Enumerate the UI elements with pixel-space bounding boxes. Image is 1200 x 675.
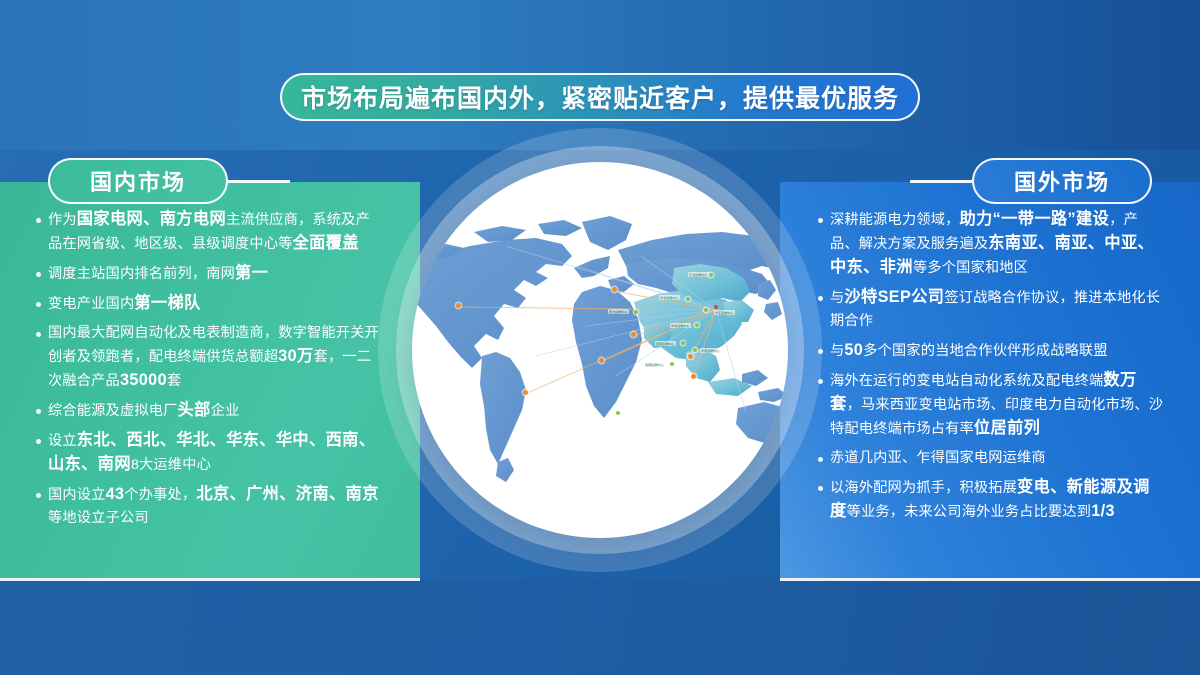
list-item: 调度主站国内排名前列，南网第一 (36, 262, 382, 286)
map-marker-huanan (693, 348, 697, 352)
domestic-badge-label: 国内市场 (90, 165, 186, 197)
map-marker-xibei (634, 310, 638, 314)
map-marker-dongbei (709, 273, 713, 277)
overseas-badge-connector (910, 180, 974, 183)
list-item-text: 变电产业国内第一梯队 (48, 292, 201, 316)
map-marker-headquarters (714, 305, 718, 309)
list-item: 变电产业国内第一梯队 (36, 292, 382, 316)
list-item: 国内最大配网自动化及电表制造商，数字智能开关开创者及领跑者，配电终端供货总额超3… (36, 322, 382, 393)
map-marker-west-africa (599, 358, 604, 363)
list-item: 赤道几内亚、乍得国家电网运维商 (818, 447, 1164, 470)
map-marker-middle-east (631, 332, 636, 337)
slide-title-banner: 市场布局遍布国内外，紧密贴近客户，提供最优服务 (280, 73, 920, 121)
map-marker-huazhong (695, 323, 699, 327)
list-item: 作为国家电网、南方电网主流供应商，系统及产品在网省级、地区级、县级调度中心等全面… (36, 208, 382, 256)
map-marker-south-america (523, 390, 528, 395)
map-marker-central-asia (612, 287, 617, 292)
list-item-text: 与沙特SEP公司签订战略合作协议，推进本地化长期合作 (830, 286, 1164, 333)
bullet-dot-icon (36, 439, 41, 444)
map-label-dongbei: 东北运维中心 (688, 272, 709, 277)
map-label-huadong: 华东运维中心 (714, 310, 735, 315)
list-item-text: 设立东北、西北、华北、华东、华中、西南、山东、南网8大运维中心 (48, 429, 382, 477)
map-label-huazhong: 华中运维中心 (670, 323, 691, 328)
list-item: 设立东北、西北、华北、华东、华中、西南、山东、南网8大运维中心 (36, 429, 382, 477)
world-map-globe: 东北运维中心 华北运维中心 西北运维中心 华东运维中心 华中运维中心 西南运维中… (378, 128, 822, 572)
list-item: 与沙特SEP公司签订战略合作协议，推进本地化长期合作 (818, 286, 1164, 333)
list-item-text: 国内设立43个办事处，北京、广州、济南、南京等地设立子公司 (48, 483, 382, 530)
list-item-text: 深耕能源电力领域，助力“一带一路”建设，产品、解决方案及服务遍及东南亚、南亚、中… (830, 208, 1164, 280)
domestic-panel-divider (0, 578, 420, 581)
map-label-huabei: 华北运维中心 (659, 295, 680, 300)
overseas-badge-label: 国外市场 (1014, 165, 1110, 197)
bullet-dot-icon (36, 332, 41, 337)
map-clip-region: 东北运维中心 华北运维中心 西北运维中心 华东运维中心 华中运维中心 西南运维中… (412, 162, 788, 538)
slide-title-text: 市场布局遍布国内外，紧密贴近客户，提供最优服务 (301, 79, 899, 115)
list-item: 海外在运行的变电站自动化系统及配电终端数万套，马来西亚变电站市场、印度电力自动化… (818, 369, 1164, 441)
domestic-bullet-list: 作为国家电网、南方电网主流供应商，系统及产品在网省级、地区级、县级调度中心等全面… (36, 208, 382, 536)
bullet-dot-icon (818, 218, 823, 223)
world-map-svg (412, 206, 788, 496)
list-item-text: 国内最大配网自动化及电表制造商，数字智能开关开创者及领跑者，配电终端供货总额超3… (48, 322, 382, 393)
list-item-text: 作为国家电网、南方电网主流供应商，系统及产品在网省级、地区级、县级调度中心等全面… (48, 208, 382, 256)
overseas-panel-divider (780, 578, 1200, 581)
map-label-xinan: 西南运维中心 (655, 341, 676, 346)
bullet-dot-icon (36, 272, 41, 277)
map-label-nanwang: 南网运维中心 (644, 362, 665, 367)
map-marker-xinan (681, 341, 685, 345)
map-marker-huabei (686, 297, 690, 301)
map-marker-southern-africa (616, 411, 620, 415)
map-marker-huadong (704, 308, 708, 312)
bullet-dot-icon (36, 493, 41, 498)
map-marker-malaysia (691, 374, 696, 379)
list-item-text: 调度主站国内排名前列，南网第一 (48, 262, 268, 286)
list-item: 深耕能源电力领域，助力“一带一路”建设，产品、解决方案及服务遍及东南亚、南亚、中… (818, 208, 1164, 280)
list-item: 综合能源及虚拟电厂头部企业 (36, 399, 382, 423)
list-item: 与50多个国家的当地合作伙伴形成战略联盟 (818, 339, 1164, 363)
map-marker-southeast-asia (688, 354, 693, 359)
overseas-badge: 国外市场 (972, 158, 1152, 204)
list-item-text: 以海外配网为抓手，积极拓展变电、新能源及调度等业务，未来公司海外业务占比要达到1… (830, 476, 1164, 524)
domestic-badge: 国内市场 (48, 158, 228, 204)
bullet-dot-icon (818, 486, 823, 491)
bullet-dot-icon (36, 409, 41, 414)
map-label-xibei: 西北运维中心 (608, 309, 629, 314)
list-item: 国内设立43个办事处，北京、广州、济南、南京等地设立子公司 (36, 483, 382, 530)
list-item-text: 赤道几内亚、乍得国家电网运维商 (830, 447, 1046, 470)
bullet-dot-icon (818, 296, 823, 301)
map-label-huanan: 华南运维中心 (700, 348, 721, 353)
list-item-text: 海外在运行的变电站自动化系统及配电终端数万套，马来西亚变电站市场、印度电力自动化… (830, 369, 1164, 441)
list-item-text: 与50多个国家的当地合作伙伴形成战略联盟 (830, 339, 1108, 363)
bullet-dot-icon (36, 302, 41, 307)
background-bottom-band (0, 580, 1200, 675)
bullet-dot-icon (818, 379, 823, 384)
bullet-dot-icon (36, 218, 41, 223)
list-item: 以海外配网为抓手，积极拓展变电、新能源及调度等业务，未来公司海外业务占比要达到1… (818, 476, 1164, 524)
slide-canvas: 东北运维中心 华北运维中心 西北运维中心 华东运维中心 华中运维中心 西南运维中… (0, 0, 1200, 675)
map-marker-nanwang (670, 362, 674, 366)
overseas-bullet-list: 深耕能源电力领域，助力“一带一路”建设，产品、解决方案及服务遍及东南亚、南亚、中… (818, 208, 1164, 530)
map-marker-north-america (456, 303, 461, 308)
bullet-dot-icon (818, 457, 823, 462)
list-item-text: 综合能源及虚拟电厂头部企业 (48, 399, 239, 423)
bullet-dot-icon (818, 349, 823, 354)
domestic-badge-connector (226, 180, 290, 183)
